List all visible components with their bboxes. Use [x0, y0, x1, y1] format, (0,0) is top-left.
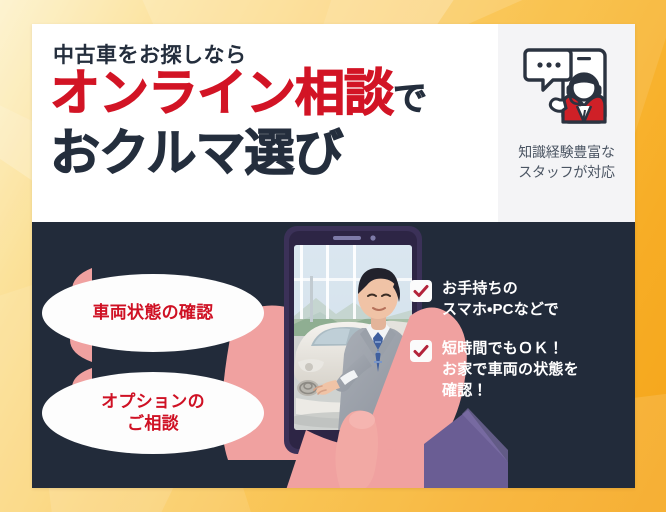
list-item: 短時間でもＯＫ！ お家で車両の状態を 確認！ [410, 338, 635, 402]
pill-1-line1: 車両状態の確認 [92, 302, 213, 324]
promo-banner: 中古車をお探しなら オンライン相談で おクルマ選び [0, 0, 666, 512]
staff-aside: 知識経験豊富な スタッフが対応 [498, 24, 635, 222]
headline-subtitle: おクルマ選び [50, 128, 343, 178]
checkbox-checked-icon [410, 280, 432, 302]
features-section: 車両状態の確認 オプションの ご相談 お手持ちの [32, 222, 635, 488]
check-item-1-text: お手持ちの スマホ・PCなどで [442, 278, 559, 321]
staff-caption: 知識経験豊富な スタッフが対応 [498, 142, 635, 183]
operator-headset-icon [519, 38, 615, 134]
check-item-1-line1: お手持ちの [442, 278, 559, 299]
pill-2-line2: ご相談 [101, 413, 205, 435]
headline-red-text: オンライン相談 [50, 65, 393, 121]
checkbox-checked-icon [410, 340, 432, 362]
staff-caption-line1: 知識経験豊富な [498, 142, 635, 162]
pill-2-line1: オプションの [101, 391, 205, 413]
headline-column: 中古車をお探しなら オンライン相談で おクルマ選び [32, 24, 498, 222]
staff-caption-line2: スタッフが対応 [498, 162, 635, 182]
check-item-1-line2: スマホ・PCなどで [442, 299, 559, 320]
check-item-2-text: 短時間でもＯＫ！ お家で車両の状態を 確認！ [442, 338, 579, 402]
list-item: お手持ちの スマホ・PCなどで [410, 278, 635, 321]
page-title: オンライン相談で [50, 68, 426, 118]
headline-section: 中古車をお探しなら オンライン相談で おクルマ選び [32, 24, 635, 222]
check-item-2-line3: 確認！ [442, 380, 579, 401]
check-item-2-line1: 短時間でもＯＫ！ [442, 338, 579, 359]
banner-card: 中古車をお探しなら オンライン相談で おクルマ選び [32, 24, 635, 488]
check-item-2-line2: お家で車両の状態を [442, 359, 579, 380]
callout-pill-vehicle-condition[interactable]: 車両状態の確認 [42, 274, 264, 352]
callout-pill-option-consult[interactable]: オプションの ご相談 [42, 372, 264, 454]
headline-suffix-text: で [393, 80, 426, 118]
feature-checklist: お手持ちの スマホ・PCなどで 短時間でもＯＫ！ お家で車両の状態を 確認！ [410, 278, 635, 418]
